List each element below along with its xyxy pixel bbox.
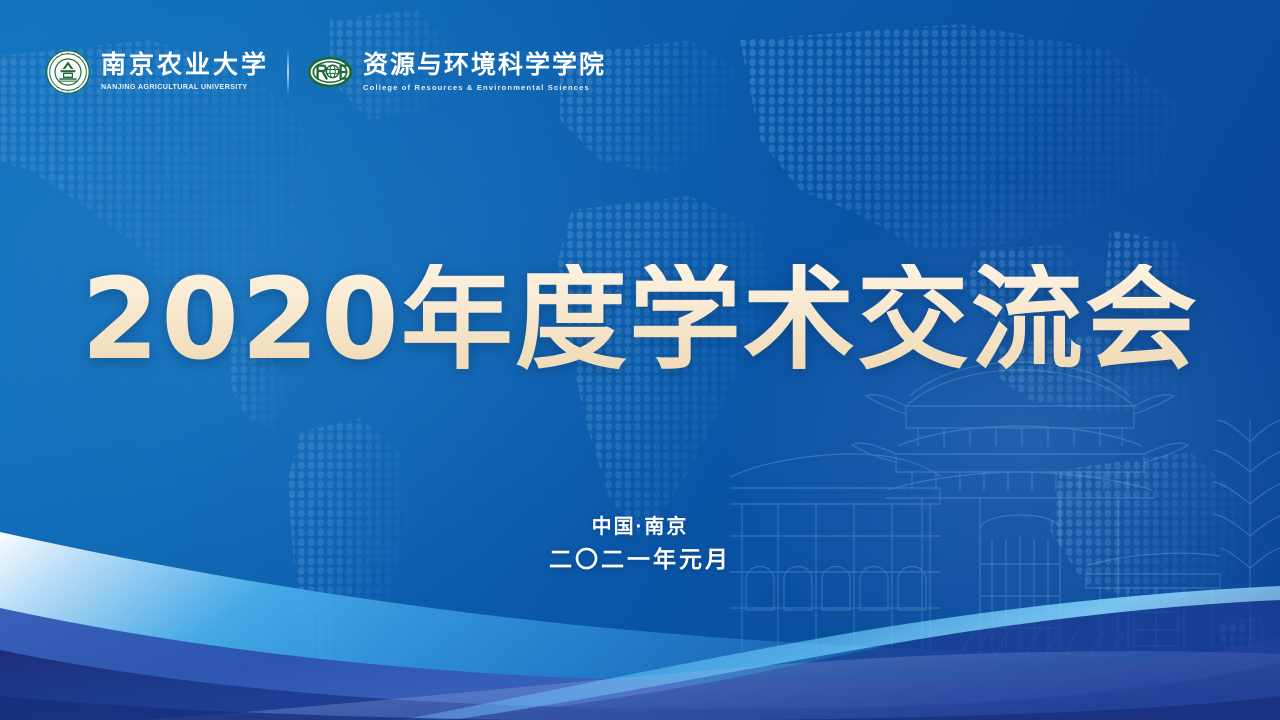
college-name-block: 资源与环境科学学院 College of Resources & Environ… — [363, 53, 606, 92]
header-logo-bar: 南京农业大学 NANJING AGRICULTURAL UNIVERSITY — [46, 50, 606, 94]
college-name-cn: 资源与环境科学学院 — [363, 53, 606, 78]
nanjing-agricultural-university-seal-icon — [46, 50, 90, 94]
university-name-en: NANJING AGRICULTURAL UNIVERSITY — [101, 83, 269, 90]
university-name-cn: 南京农业大学 — [101, 53, 269, 78]
title-slide: 南京农业大学 NANJING AGRICULTURAL UNIVERSITY — [0, 0, 1280, 720]
subtitle-date: 二〇二一年元月 — [0, 542, 1280, 578]
page-title: 2020年度学术交流会 — [0, 264, 1280, 376]
subtitle-location: 中国·南京 — [0, 512, 1280, 542]
university-name-block: 南京农业大学 NANJING AGRICULTURAL UNIVERSITY — [101, 53, 269, 90]
university-logo: 南京农业大学 NANJING AGRICULTURAL UNIVERSITY — [46, 50, 269, 94]
logo-divider — [287, 52, 289, 92]
subtitle-block: 中国·南京 二〇二一年元月 — [0, 512, 1280, 578]
college-seal-icon — [307, 56, 353, 88]
college-name-en: College of Resources & Environmental Sci… — [363, 84, 606, 92]
college-logo: 资源与环境科学学院 College of Resources & Environ… — [307, 53, 606, 92]
